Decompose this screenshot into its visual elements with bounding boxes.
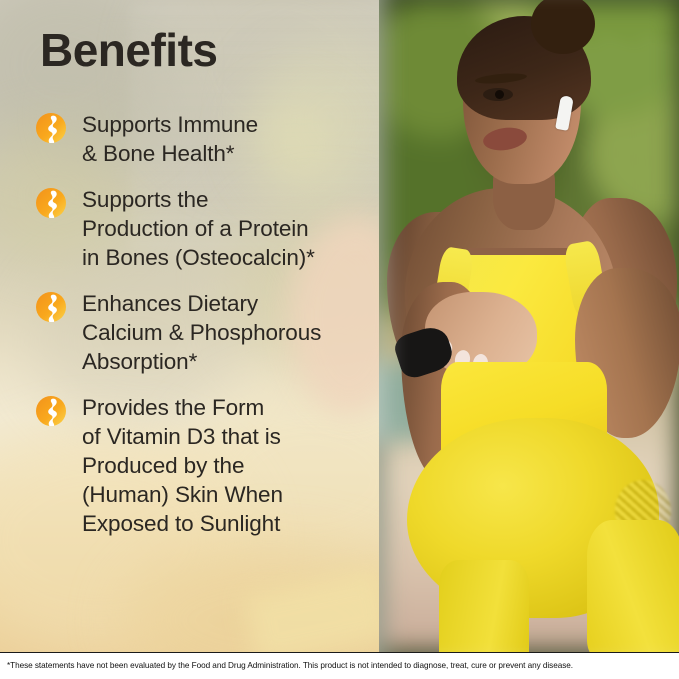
bone-joint-icon <box>36 113 66 143</box>
bone-joint-icon <box>36 188 66 218</box>
lifestyle-photo <box>379 0 679 652</box>
photo-scene <box>379 0 679 652</box>
list-item: Enhances Dietary Calcium & Phosphorous A… <box>36 289 366 376</box>
list-item: Supports Immune & Bone Health* <box>36 110 366 168</box>
page-title: Benefits <box>40 26 217 74</box>
list-item-label: Enhances Dietary Calcium & Phosphorous A… <box>82 289 321 376</box>
figure-left-leg <box>439 560 529 652</box>
product-benefits-infographic: Benefits Supports Immune & Bone He <box>0 0 679 679</box>
figure-right-leg <box>587 520 679 652</box>
bone-joint-icon <box>36 396 66 426</box>
list-item-label: Provides the Form of Vitamin D3 that is … <box>82 393 283 538</box>
list-item-label: Supports the Production of a Protein in … <box>82 185 315 272</box>
list-item: Supports the Production of a Protein in … <box>36 185 366 272</box>
benefits-list: Supports Immune & Bone Health* Supports … <box>36 110 366 555</box>
list-item: Provides the Form of Vitamin D3 that is … <box>36 393 366 538</box>
disclaimer-text: *These statements have not been evaluate… <box>0 661 580 670</box>
figure-eye <box>483 88 513 101</box>
bone-joint-icon <box>36 292 66 322</box>
disclaimer-bar: *These statements have not been evaluate… <box>0 652 679 679</box>
list-item-label: Supports Immune & Bone Health* <box>82 110 258 168</box>
